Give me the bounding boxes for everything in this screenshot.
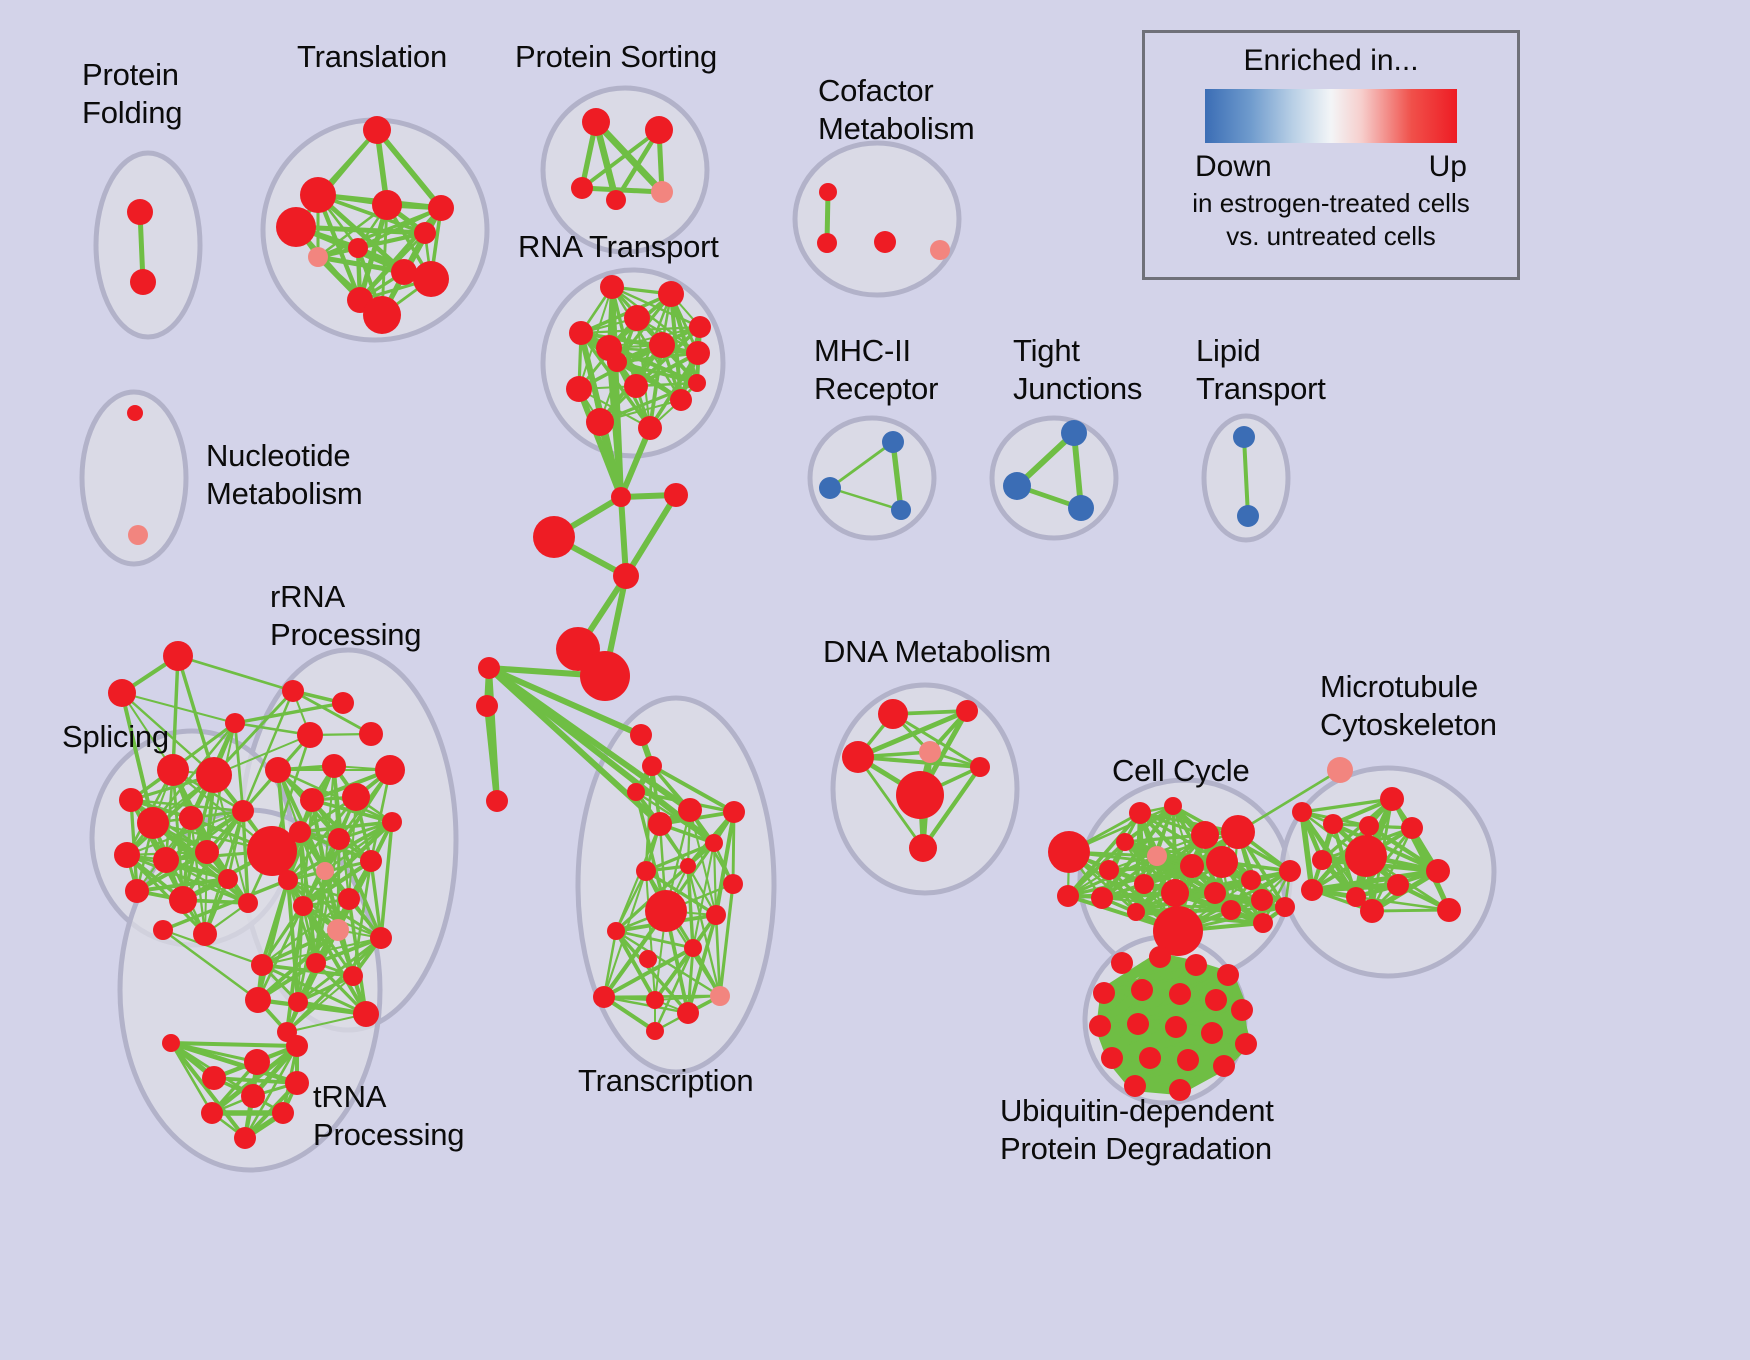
- gene-set-node[interactable]: [1129, 802, 1151, 824]
- legend-gradient-bar: [1205, 89, 1457, 143]
- gene-set-node[interactable]: [286, 1035, 308, 1057]
- cluster-ellipse-protein-sorting[interactable]: [543, 88, 707, 252]
- gene-set-node[interactable]: [316, 862, 334, 880]
- gene-set-node[interactable]: [360, 850, 382, 872]
- gene-set-node[interactable]: [125, 879, 149, 903]
- gene-set-node[interactable]: [706, 905, 726, 925]
- gene-set-node[interactable]: [600, 275, 624, 299]
- gene-set-node[interactable]: [413, 261, 449, 297]
- gene-set-node[interactable]: [874, 231, 896, 253]
- gene-set-node[interactable]: [391, 259, 417, 285]
- gene-set-node[interactable]: [1205, 989, 1227, 1011]
- gene-set-node[interactable]: [272, 1102, 294, 1124]
- gene-set-node[interactable]: [1091, 887, 1113, 909]
- gene-set-node[interactable]: [645, 890, 687, 932]
- gene-set-node[interactable]: [645, 116, 673, 144]
- gene-set-node[interactable]: [169, 886, 197, 914]
- gene-set-node[interactable]: [624, 374, 648, 398]
- gene-set-node[interactable]: [372, 190, 402, 220]
- gene-set-node[interactable]: [202, 1066, 226, 1090]
- gene-set-node[interactable]: [1101, 1047, 1123, 1069]
- gene-set-node[interactable]: [300, 177, 336, 213]
- gene-set-node[interactable]: [723, 801, 745, 823]
- gene-set-node[interactable]: [1099, 860, 1119, 880]
- gene-set-node[interactable]: [1237, 505, 1259, 527]
- gene-set-node[interactable]: [428, 195, 454, 221]
- gene-set-node[interactable]: [1360, 899, 1384, 923]
- gene-set-node[interactable]: [476, 695, 498, 717]
- gene-set-node[interactable]: [1147, 846, 1167, 866]
- gene-set-node[interactable]: [688, 374, 706, 392]
- gene-set-node[interactable]: [1204, 882, 1226, 904]
- gene-set-node[interactable]: [1345, 835, 1387, 877]
- gene-set-node[interactable]: [1134, 874, 1154, 894]
- gene-set-node[interactable]: [1180, 854, 1204, 878]
- gene-set-node[interactable]: [533, 516, 575, 558]
- gene-set-node[interactable]: [1061, 420, 1087, 446]
- legend-subtitle-line-1: in estrogen-treated cells: [1161, 187, 1501, 220]
- gene-set-node[interactable]: [218, 869, 238, 889]
- gene-set-node[interactable]: [193, 922, 217, 946]
- gene-set-node[interactable]: [1217, 964, 1239, 986]
- gene-set-node[interactable]: [569, 321, 593, 345]
- gene-set-node[interactable]: [1149, 946, 1171, 968]
- gene-set-node[interactable]: [624, 305, 650, 331]
- gene-set-node[interactable]: [819, 183, 837, 201]
- gene-set-node[interactable]: [1253, 913, 1273, 933]
- gene-set-node[interactable]: [723, 874, 743, 894]
- gene-set-node[interactable]: [1127, 1013, 1149, 1035]
- gene-set-node[interactable]: [710, 986, 730, 1006]
- gene-set-node[interactable]: [651, 181, 673, 203]
- gene-set-node[interactable]: [1241, 870, 1261, 890]
- gene-set-node[interactable]: [245, 987, 271, 1013]
- gene-set-node[interactable]: [1312, 850, 1332, 870]
- network-canvas: Protein FoldingTranslationProtein Sortin…: [0, 0, 1750, 1360]
- gene-set-node[interactable]: [128, 525, 148, 545]
- gene-set-node[interactable]: [1206, 846, 1238, 878]
- gene-set-node[interactable]: [1380, 787, 1404, 811]
- gene-set-node[interactable]: [593, 986, 615, 1008]
- gene-set-node[interactable]: [486, 790, 508, 812]
- gene-set-node[interactable]: [930, 240, 950, 260]
- gene-set-node[interactable]: [382, 812, 402, 832]
- gene-set-node[interactable]: [363, 116, 391, 144]
- gene-set-node[interactable]: [1235, 1033, 1257, 1055]
- gene-set-node[interactable]: [343, 966, 363, 986]
- gene-set-node[interactable]: [1251, 889, 1273, 911]
- gene-set-node[interactable]: [332, 692, 354, 714]
- gene-set-node[interactable]: [201, 1102, 223, 1124]
- gene-set-node[interactable]: [1185, 954, 1207, 976]
- gene-set-node[interactable]: [582, 108, 610, 136]
- gene-set-node[interactable]: [288, 992, 308, 1012]
- gene-set-node[interactable]: [306, 953, 326, 973]
- gene-set-node[interactable]: [195, 840, 219, 864]
- gene-set-node[interactable]: [1401, 817, 1423, 839]
- gene-set-node[interactable]: [586, 408, 614, 436]
- gene-set-node[interactable]: [342, 783, 370, 811]
- gene-set-node[interactable]: [646, 1022, 664, 1040]
- gene-set-node[interactable]: [278, 870, 298, 890]
- legend-subtitle-line-2: vs. untreated cells: [1161, 220, 1501, 253]
- gene-set-node[interactable]: [1292, 802, 1312, 822]
- gene-set-node[interactable]: [1169, 1079, 1191, 1101]
- gene-set-node[interactable]: [1359, 816, 1379, 836]
- gene-set-node[interactable]: [606, 190, 626, 210]
- gene-set-node[interactable]: [611, 487, 631, 507]
- gene-set-node[interactable]: [196, 757, 232, 793]
- gene-set-node[interactable]: [677, 1002, 699, 1024]
- gene-set-node[interactable]: [642, 756, 662, 776]
- gene-set-node[interactable]: [705, 834, 723, 852]
- gene-set-node[interactable]: [359, 722, 383, 746]
- gene-set-node[interactable]: [571, 177, 593, 199]
- gene-set-node[interactable]: [1327, 757, 1353, 783]
- gene-set-node[interactable]: [225, 713, 245, 733]
- gene-set-node[interactable]: [1213, 1055, 1235, 1077]
- gene-set-node[interactable]: [896, 771, 944, 819]
- gene-set-node[interactable]: [878, 699, 908, 729]
- gene-set-node[interactable]: [1279, 860, 1301, 882]
- edge: [626, 495, 676, 576]
- gene-set-node[interactable]: [684, 939, 702, 957]
- gene-set-node[interactable]: [970, 757, 990, 777]
- gene-set-node[interactable]: [689, 316, 711, 338]
- legend-low-label: Down: [1195, 147, 1272, 187]
- gene-set-node[interactable]: [348, 238, 368, 258]
- cluster-ellipse-cofactor-metabolism[interactable]: [795, 143, 959, 295]
- gene-set-node[interactable]: [179, 806, 203, 830]
- gene-set-node[interactable]: [639, 950, 657, 968]
- gene-set-node[interactable]: [108, 679, 136, 707]
- gene-set-node[interactable]: [293, 896, 313, 916]
- gene-set-node[interactable]: [153, 920, 173, 940]
- gene-set-node[interactable]: [607, 922, 625, 940]
- gene-set-node[interactable]: [153, 847, 179, 873]
- gene-set-node[interactable]: [289, 821, 311, 843]
- gene-set-node[interactable]: [1003, 472, 1031, 500]
- gene-set-node[interactable]: [162, 1034, 180, 1052]
- gene-set-node[interactable]: [163, 641, 193, 671]
- gene-set-node[interactable]: [1387, 874, 1409, 896]
- gene-set-node[interactable]: [649, 332, 675, 358]
- gene-set-node[interactable]: [580, 651, 630, 701]
- gene-set-node[interactable]: [638, 416, 662, 440]
- gene-set-node[interactable]: [1437, 898, 1461, 922]
- gene-set-node[interactable]: [630, 724, 652, 746]
- gene-set-node[interactable]: [1057, 885, 1079, 907]
- gene-set-node[interactable]: [842, 741, 874, 773]
- gene-set-node[interactable]: [327, 919, 349, 941]
- gene-set-node[interactable]: [680, 858, 696, 874]
- gene-set-node[interactable]: [1048, 831, 1090, 873]
- gene-set-node[interactable]: [1139, 1047, 1161, 1069]
- gene-set-node[interactable]: [1111, 952, 1133, 974]
- gene-set-node[interactable]: [285, 1071, 309, 1095]
- gene-set-node[interactable]: [308, 247, 328, 267]
- gene-set-node[interactable]: [566, 376, 592, 402]
- gene-set-node[interactable]: [1231, 999, 1253, 1021]
- gene-set-node[interactable]: [137, 807, 169, 839]
- gene-set-node[interactable]: [414, 222, 436, 244]
- gene-set-node[interactable]: [127, 199, 153, 225]
- gene-set-node[interactable]: [646, 991, 664, 1009]
- gene-set-node[interactable]: [478, 657, 500, 679]
- gene-set-node[interactable]: [819, 477, 841, 499]
- gene-set-node[interactable]: [232, 800, 254, 822]
- gene-set-node[interactable]: [244, 1049, 270, 1075]
- gene-set-node[interactable]: [276, 207, 316, 247]
- gene-set-node[interactable]: [613, 563, 639, 589]
- gene-set-node[interactable]: [636, 861, 656, 881]
- gene-set-node[interactable]: [891, 500, 911, 520]
- gene-set-node[interactable]: [114, 842, 140, 868]
- gene-set-node[interactable]: [909, 834, 937, 862]
- gene-set-node[interactable]: [338, 888, 360, 910]
- gene-set-node[interactable]: [1201, 1022, 1223, 1044]
- legend-endpoints: Down Up: [1161, 147, 1501, 187]
- gene-set-node[interactable]: [1161, 879, 1189, 907]
- gene-set-node[interactable]: [1127, 903, 1145, 921]
- gene-set-node[interactable]: [322, 754, 346, 778]
- gene-set-node[interactable]: [375, 755, 405, 785]
- gene-set-node[interactable]: [1164, 797, 1182, 815]
- gene-set-node[interactable]: [353, 1001, 379, 1027]
- gene-set-node[interactable]: [670, 389, 692, 411]
- legend-panel: Enriched in... Down Up in estrogen-treat…: [1142, 30, 1520, 280]
- gene-set-node[interactable]: [648, 812, 672, 836]
- gene-set-node[interactable]: [1233, 426, 1255, 448]
- gene-set-node[interactable]: [265, 757, 291, 783]
- gene-set-node[interactable]: [282, 680, 304, 702]
- gene-set-node[interactable]: [157, 754, 189, 786]
- gene-set-node[interactable]: [1169, 983, 1191, 1005]
- gene-set-node[interactable]: [1323, 814, 1343, 834]
- gene-set-node[interactable]: [1301, 879, 1323, 901]
- gene-set-node[interactable]: [1131, 979, 1153, 1001]
- gene-set-node[interactable]: [607, 352, 627, 372]
- gene-set-node[interactable]: [1124, 1075, 1146, 1097]
- gene-set-node[interactable]: [130, 269, 156, 295]
- gene-set-node[interactable]: [658, 281, 684, 307]
- edge: [178, 656, 293, 691]
- gene-set-node[interactable]: [297, 722, 323, 748]
- gene-set-node[interactable]: [1093, 982, 1115, 1004]
- gene-set-node[interactable]: [363, 296, 401, 334]
- gene-set-node[interactable]: [241, 1084, 265, 1108]
- gene-set-node[interactable]: [882, 431, 904, 453]
- legend-title: Enriched in...: [1161, 41, 1501, 81]
- gene-set-node[interactable]: [817, 233, 837, 253]
- gene-set-node[interactable]: [1426, 859, 1450, 883]
- gene-set-node[interactable]: [1165, 1016, 1187, 1038]
- gene-set-node[interactable]: [919, 741, 941, 763]
- gene-set-node[interactable]: [328, 828, 350, 850]
- gene-set-node[interactable]: [1221, 900, 1241, 920]
- gene-set-node[interactable]: [1221, 815, 1255, 849]
- gene-set-node[interactable]: [1275, 897, 1295, 917]
- gene-set-node[interactable]: [686, 341, 710, 365]
- gene-set-node[interactable]: [1068, 495, 1094, 521]
- gene-set-node[interactable]: [127, 405, 143, 421]
- gene-set-node[interactable]: [251, 954, 273, 976]
- gene-set-node[interactable]: [678, 798, 702, 822]
- gene-set-node[interactable]: [300, 788, 324, 812]
- gene-set-node[interactable]: [1177, 1049, 1199, 1071]
- gene-set-node[interactable]: [1089, 1015, 1111, 1037]
- gene-set-node[interactable]: [370, 927, 392, 949]
- gene-set-node[interactable]: [627, 783, 645, 801]
- gene-set-node[interactable]: [119, 788, 143, 812]
- gene-set-node[interactable]: [1191, 821, 1219, 849]
- gene-set-node[interactable]: [664, 483, 688, 507]
- gene-set-node[interactable]: [1116, 833, 1134, 851]
- cluster-ellipse-protein-folding[interactable]: [96, 153, 200, 337]
- gene-set-node[interactable]: [956, 700, 978, 722]
- gene-set-node[interactable]: [238, 893, 258, 913]
- gene-set-node[interactable]: [234, 1127, 256, 1149]
- legend-high-label: Up: [1429, 147, 1467, 187]
